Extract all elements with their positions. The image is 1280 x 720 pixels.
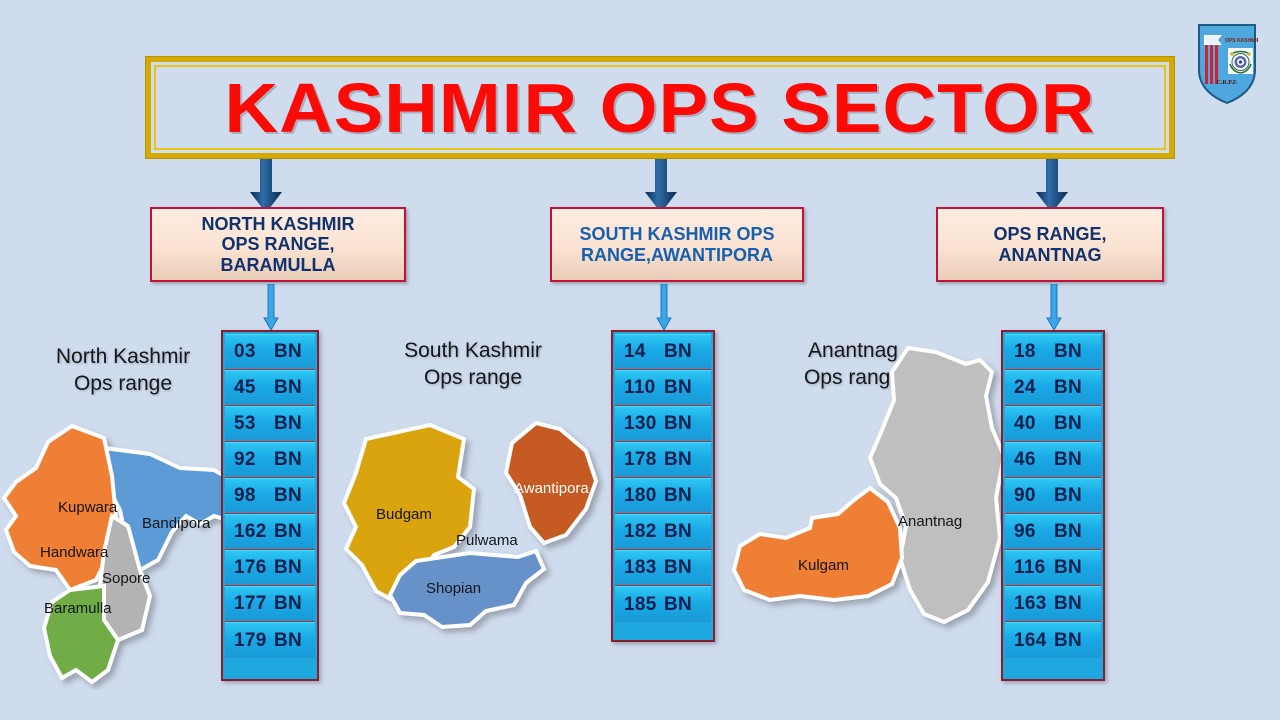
range-header-anantnag-label: OPS RANGE, ANANTNAG — [993, 224, 1106, 264]
battalion-number: 24 — [1014, 377, 1054, 399]
battalion-number: 46 — [1014, 449, 1054, 471]
battalion-cell[interactable]: 14BN — [615, 334, 711, 370]
battalion-suffix: BN — [664, 377, 692, 399]
battalion-cell[interactable]: 183BN — [615, 550, 711, 586]
battalion-suffix: BN — [1054, 593, 1082, 615]
battalion-suffix: BN — [1054, 341, 1082, 363]
battalion-number: 179 — [234, 630, 274, 652]
svg-text:OPS KASHMIR SECTOR: OPS KASHMIR SECTOR — [1225, 38, 1258, 44]
battalion-list-anantnag: 18BN24BN40BN46BN90BN96BN116BN163BN164BN — [1001, 330, 1105, 681]
battalion-list-north-kashmir: 03BN45BN53BN92BN98BN162BN176BN177BN179BN — [221, 330, 319, 681]
district-label-shopian: Shopian — [426, 580, 481, 597]
battalion-cell[interactable]: 185BN — [615, 586, 711, 622]
battalion-number: 53 — [234, 413, 274, 435]
battalion-suffix: BN — [274, 557, 302, 579]
battalion-suffix: BN — [664, 341, 692, 363]
battalion-cell[interactable]: 92BN — [225, 442, 315, 478]
battalion-suffix: BN — [1054, 521, 1082, 543]
district-label-pulwama: Pulwama — [456, 532, 518, 549]
battalion-suffix: BN — [274, 341, 302, 363]
battalion-suffix: BN — [664, 413, 692, 435]
battalion-suffix: BN — [1054, 413, 1082, 435]
battalion-suffix: BN — [1054, 630, 1082, 652]
battalion-suffix: BN — [1054, 557, 1082, 579]
battalion-cell[interactable]: 46BN — [1005, 442, 1101, 478]
map-north-kashmir: Kupwara Handwara Bandipora Sopore Baramu… — [0, 420, 230, 690]
range-header-north-kashmir[interactable]: NORTH KASHMIR OPS RANGE, BARAMULLA — [150, 207, 406, 282]
battalion-suffix: BN — [664, 485, 692, 507]
district-label-anantnag: Anantnag — [898, 513, 962, 530]
battalion-suffix: BN — [664, 557, 692, 579]
battalion-suffix: BN — [664, 594, 692, 616]
battalion-suffix: BN — [274, 449, 302, 471]
range-header-north-kashmir-label: NORTH KASHMIR OPS RANGE, BARAMULLA — [202, 214, 355, 274]
map-title-line: Ops range — [378, 365, 568, 392]
battalion-number: 03 — [234, 341, 274, 363]
range-header-anantnag[interactable]: OPS RANGE, ANANTNAG — [936, 207, 1164, 282]
battalion-number: 185 — [624, 594, 664, 616]
battalion-number: 116 — [1014, 557, 1054, 579]
map-title-north-kashmir: North Kashmir Ops range — [28, 344, 218, 398]
battalion-suffix: BN — [664, 449, 692, 471]
battalion-cell[interactable]: 03BN — [225, 334, 315, 370]
district-kulgam — [734, 488, 902, 600]
district-label-budgam: Budgam — [376, 506, 432, 523]
battalion-cell[interactable]: 163BN — [1005, 586, 1101, 622]
battalion-suffix: BN — [1054, 377, 1082, 399]
battalion-suffix: BN — [1054, 485, 1082, 507]
district-label-kupwara: Kupwara — [58, 499, 118, 516]
battalion-cell[interactable]: 98BN — [225, 478, 315, 514]
battalion-number: 14 — [624, 341, 664, 363]
title-banner: KASHMIR OPS SECTOR — [146, 57, 1174, 158]
district-label-handwara: Handwara — [40, 544, 109, 561]
district-label-sopore: Sopore — [102, 570, 150, 587]
crpf-ops-kashmir-sector-badge-icon: OPS KASHMIR SECTOR C.R.P.F. — [1196, 22, 1258, 106]
battalion-number: 163 — [1014, 593, 1054, 615]
connector-arrow-down-south — [644, 159, 678, 214]
battalion-cell[interactable]: 162BN — [225, 514, 315, 550]
connector-arrow-small-anantnag — [1046, 284, 1062, 332]
map-anantnag: Anantnag Kulgam — [730, 338, 1010, 638]
battalion-cell[interactable]: 178BN — [615, 442, 711, 478]
battalion-suffix: BN — [274, 593, 302, 615]
battalion-number: 98 — [234, 485, 274, 507]
connector-arrow-small-south — [656, 284, 672, 332]
battalion-cell[interactable]: 164BN — [1005, 622, 1101, 658]
battalion-number: 183 — [624, 557, 664, 579]
battalion-suffix: BN — [274, 521, 302, 543]
slide-canvas: KASHMIR OPS SECTOR OPS KASHMIR SECTOR C.… — [0, 0, 1280, 720]
battalion-cell[interactable]: 182BN — [615, 514, 711, 550]
connector-arrow-down-anantnag — [1035, 159, 1069, 214]
battalion-list-south-kashmir: 14BN110BN130BN178BN180BN182BN183BN185BN — [611, 330, 715, 642]
svg-text:C.R.P.F.: C.R.P.F. — [1217, 80, 1238, 86]
battalion-number: 130 — [624, 413, 664, 435]
battalion-suffix: BN — [274, 630, 302, 652]
battalion-cell[interactable]: 130BN — [615, 406, 711, 442]
battalion-number: 164 — [1014, 630, 1054, 652]
page-title: KASHMIR OPS SECTOR — [120, 68, 1199, 148]
battalion-suffix: BN — [1054, 449, 1082, 471]
battalion-cell[interactable]: 24BN — [1005, 370, 1101, 406]
battalion-number: 162 — [234, 521, 274, 543]
battalion-cell[interactable]: 18BN — [1005, 334, 1101, 370]
range-header-south-kashmir-label: SOUTH KASHMIR OPS RANGE,AWANTIPORA — [579, 224, 774, 264]
battalion-cell[interactable]: 40BN — [1005, 406, 1101, 442]
battalion-number: 182 — [624, 521, 664, 543]
battalion-number: 96 — [1014, 521, 1054, 543]
range-header-south-kashmir[interactable]: SOUTH KASHMIR OPS RANGE,AWANTIPORA — [550, 207, 804, 282]
battalion-cell[interactable]: 110BN — [615, 370, 711, 406]
battalion-number: 177 — [234, 593, 274, 615]
battalion-number: 40 — [1014, 413, 1054, 435]
battalion-cell[interactable]: 116BN — [1005, 550, 1101, 586]
map-title-line: North Kashmir — [28, 344, 218, 371]
battalion-cell[interactable]: 179BN — [225, 622, 315, 658]
battalion-cell[interactable]: 90BN — [1005, 478, 1101, 514]
battalion-suffix: BN — [664, 521, 692, 543]
map-title-line: Ops range — [28, 371, 218, 398]
battalion-number: 45 — [234, 377, 274, 399]
connector-arrow-small-north — [263, 284, 279, 332]
district-label-bandipora: Bandipora — [142, 515, 211, 532]
battalion-number: 110 — [624, 377, 664, 399]
battalion-cell[interactable]: 53BN — [225, 406, 315, 442]
battalion-number: 176 — [234, 557, 274, 579]
battalion-cell[interactable]: 176BN — [225, 550, 315, 586]
battalion-cell[interactable]: 180BN — [615, 478, 711, 514]
battalion-suffix: BN — [274, 485, 302, 507]
battalion-cell[interactable]: 177BN — [225, 586, 315, 622]
battalion-number: 178 — [624, 449, 664, 471]
map-title-line: South Kashmir — [378, 338, 568, 365]
battalion-number: 18 — [1014, 341, 1054, 363]
battalion-cell[interactable]: 45BN — [225, 370, 315, 406]
connector-arrow-down-north — [249, 159, 283, 214]
map-south-kashmir: Budgam Awantipora Pulwama Shopian — [338, 415, 628, 640]
district-label-kulgam: Kulgam — [798, 557, 849, 574]
battalion-number: 90 — [1014, 485, 1054, 507]
battalion-suffix: BN — [274, 413, 302, 435]
map-title-south-kashmir: South Kashmir Ops range — [378, 338, 568, 392]
battalion-number: 180 — [624, 485, 664, 507]
battalion-suffix: BN — [274, 377, 302, 399]
battalion-cell[interactable]: 96BN — [1005, 514, 1101, 550]
district-label-baramulla: Baramulla — [44, 600, 112, 617]
battalion-number: 92 — [234, 449, 274, 471]
district-label-awantipora: Awantipora — [514, 480, 589, 497]
